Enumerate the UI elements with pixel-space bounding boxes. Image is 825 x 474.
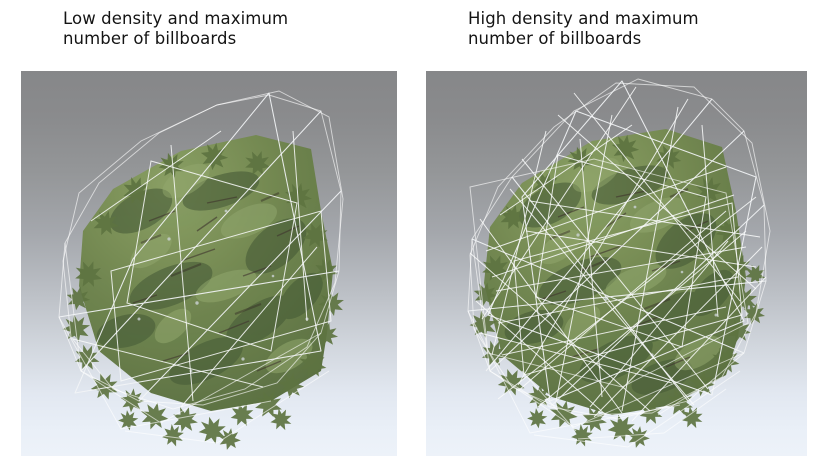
panel-caption-high-density: High density and maximum number of billb… — [468, 9, 798, 49]
viewport-low-density[interactable] — [21, 71, 397, 456]
render-low-density — [21, 71, 397, 456]
viewport-high-density[interactable] — [426, 71, 807, 456]
foliage-mass-low — [21, 71, 397, 456]
panel-caption-low-density: Low density and maximum number of billbo… — [63, 9, 393, 49]
panel-low-density: Low density and maximum number of billbo… — [21, 0, 397, 474]
panel-high-density: High density and maximum number of billb… — [426, 0, 807, 474]
render-high-density — [426, 71, 807, 456]
foliage-mass-high — [426, 71, 807, 456]
figure-two-panel-comparison: Low density and maximum number of billbo… — [0, 0, 825, 474]
